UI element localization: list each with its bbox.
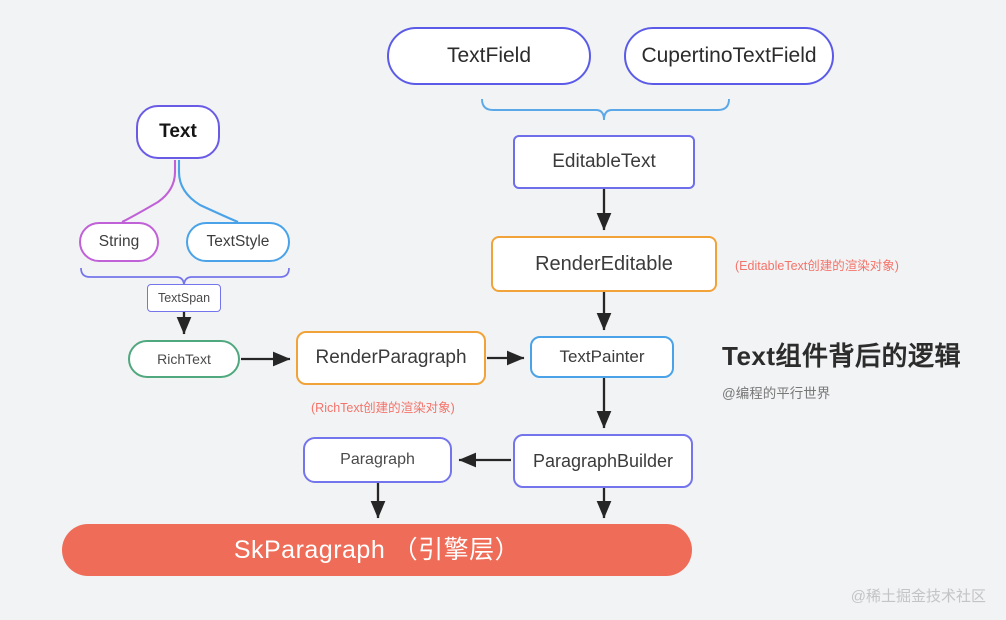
page-subtitle: @编程的平行世界 — [722, 382, 961, 402]
node-paragraph[interactable]: Paragraph — [303, 437, 452, 483]
diagram-canvas: TextField CupertinoTextField EditableTex… — [0, 0, 1006, 620]
brace-textfields — [482, 99, 729, 120]
node-cupertino-textfield[interactable]: CupertinoTextField — [624, 27, 834, 85]
node-paragraphbuilder[interactable]: ParagraphBuilder — [513, 434, 693, 488]
page-title: Text组件背后的逻辑 — [722, 336, 961, 373]
annotation-renderparagraph: (RichText创建的渲染对象) — [311, 397, 455, 416]
title-block: Text组件背后的逻辑 @编程的平行世界 — [722, 336, 961, 402]
node-textfield[interactable]: TextField — [387, 27, 591, 85]
link-text-to-string — [122, 160, 175, 222]
node-rendereditable[interactable]: RenderEditable — [491, 236, 717, 292]
node-text[interactable]: Text — [136, 105, 220, 159]
link-text-to-textstyle — [179, 160, 238, 222]
node-richtext[interactable]: RichText — [128, 340, 240, 378]
node-textstyle[interactable]: TextStyle — [186, 222, 290, 262]
node-editabletext[interactable]: EditableText — [513, 135, 695, 189]
watermark: @稀土掘金技术社区 — [851, 585, 986, 606]
node-renderparagraph[interactable]: RenderParagraph — [296, 331, 486, 385]
node-skparagraph[interactable]: SkParagraph （引擎层） — [62, 524, 692, 576]
node-string[interactable]: String — [79, 222, 159, 262]
node-textpainter[interactable]: TextPainter — [530, 336, 674, 378]
annotation-rendereditable: (EditableText创建的渲染对象) — [735, 255, 899, 274]
node-textspan[interactable]: TextSpan — [147, 284, 221, 312]
